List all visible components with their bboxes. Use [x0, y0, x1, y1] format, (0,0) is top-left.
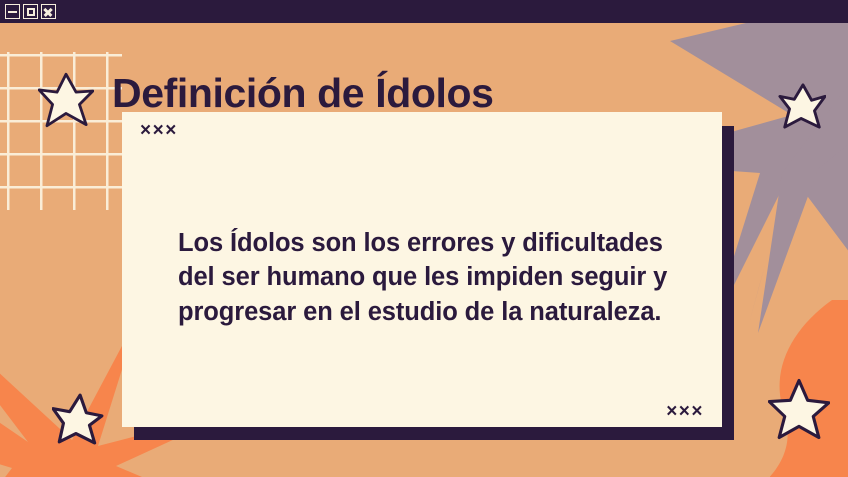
mauve-sliver-decoration	[735, 265, 775, 325]
star-icon-top-left	[38, 72, 94, 128]
content-card: ××× Los Ídolos son los errores y dificul…	[122, 112, 722, 427]
page-title: Definición de Ídolos	[112, 71, 494, 116]
maximize-icon[interactable]	[23, 4, 38, 19]
star-icon-top-right	[778, 82, 826, 130]
window-controls	[5, 4, 56, 19]
minimize-icon[interactable]	[5, 4, 20, 19]
decorative-crosses-top: ×××	[140, 120, 178, 142]
decorative-crosses-bottom: ×××	[666, 401, 704, 423]
star-icon-bottom-right	[768, 378, 830, 440]
star-icon-bottom-left	[52, 393, 104, 445]
window-titlebar	[0, 0, 848, 23]
slide-canvas: Definición de Ídolos ××× Los Ídolos son …	[0, 0, 848, 477]
close-icon[interactable]	[41, 4, 56, 19]
card-body-text: Los Ídolos son los errores y dificultade…	[178, 226, 678, 330]
